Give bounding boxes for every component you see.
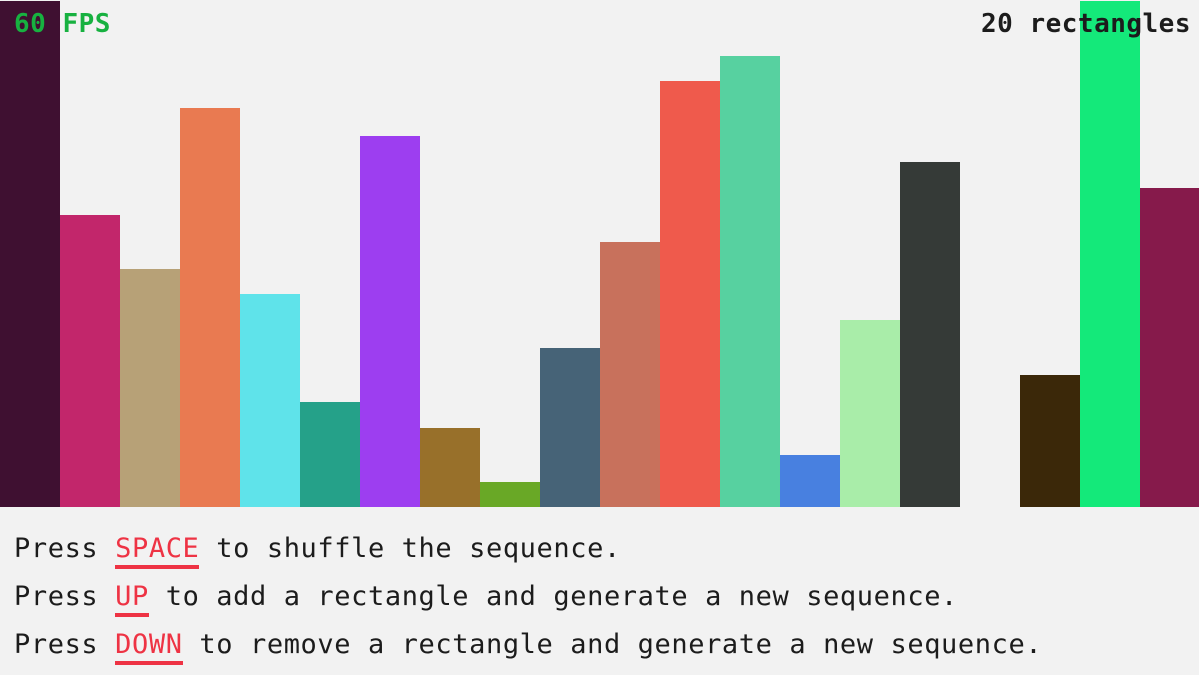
instructions-panel: Press SPACE to shuffle the sequence.Pres…	[0, 507, 1199, 675]
bar-rectangle	[60, 215, 120, 507]
instruction-line: Press DOWN to remove a rectangle and gen…	[14, 621, 1199, 669]
bar-rectangle	[900, 162, 960, 507]
bar-rectangle	[540, 348, 600, 507]
bar-rectangle	[480, 482, 540, 507]
keyboard-key-down[interactable]: DOWN	[115, 629, 182, 665]
bar-rectangle	[0, 1, 60, 507]
bar-rectangle	[360, 136, 420, 507]
keyboard-key-up[interactable]: UP	[115, 581, 149, 617]
fps-counter: 60 FPS	[14, 11, 111, 37]
instruction-suffix: to shuffle the sequence.	[199, 533, 620, 564]
bar-rectangle	[1020, 375, 1080, 507]
instruction-prefix: Press	[14, 533, 115, 564]
instruction-prefix: Press	[14, 581, 115, 612]
bar-rectangle	[240, 294, 300, 507]
instruction-suffix: to remove a rectangle and generate a new…	[183, 629, 1043, 660]
bar-rectangle	[420, 428, 480, 507]
rectangle-count-label: 20 rectangles	[981, 11, 1191, 37]
bar-chart-canvas[interactable]	[0, 0, 1199, 507]
bar-rectangle	[780, 455, 840, 507]
bar-rectangle	[180, 108, 240, 507]
instruction-suffix: to add a rectangle and generate a new se…	[149, 581, 958, 612]
instruction-line: Press SPACE to shuffle the sequence.	[14, 525, 1199, 573]
bar-rectangle	[660, 81, 720, 507]
bar-rectangle	[720, 56, 780, 507]
keyboard-key-space[interactable]: SPACE	[115, 533, 199, 569]
bar-rectangle	[1140, 188, 1199, 507]
bar-rectangle	[600, 242, 660, 507]
rectangle-visualizer-app: 60 FPS 20 rectangles Press SPACE to shuf…	[0, 0, 1199, 675]
bar-rectangle	[840, 320, 900, 507]
bar-rectangle	[120, 269, 180, 507]
instruction-line: Press UP to add a rectangle and generate…	[14, 573, 1199, 621]
bar-rectangle	[300, 402, 360, 507]
bar-rectangle	[1080, 1, 1140, 507]
instruction-prefix: Press	[14, 629, 115, 660]
